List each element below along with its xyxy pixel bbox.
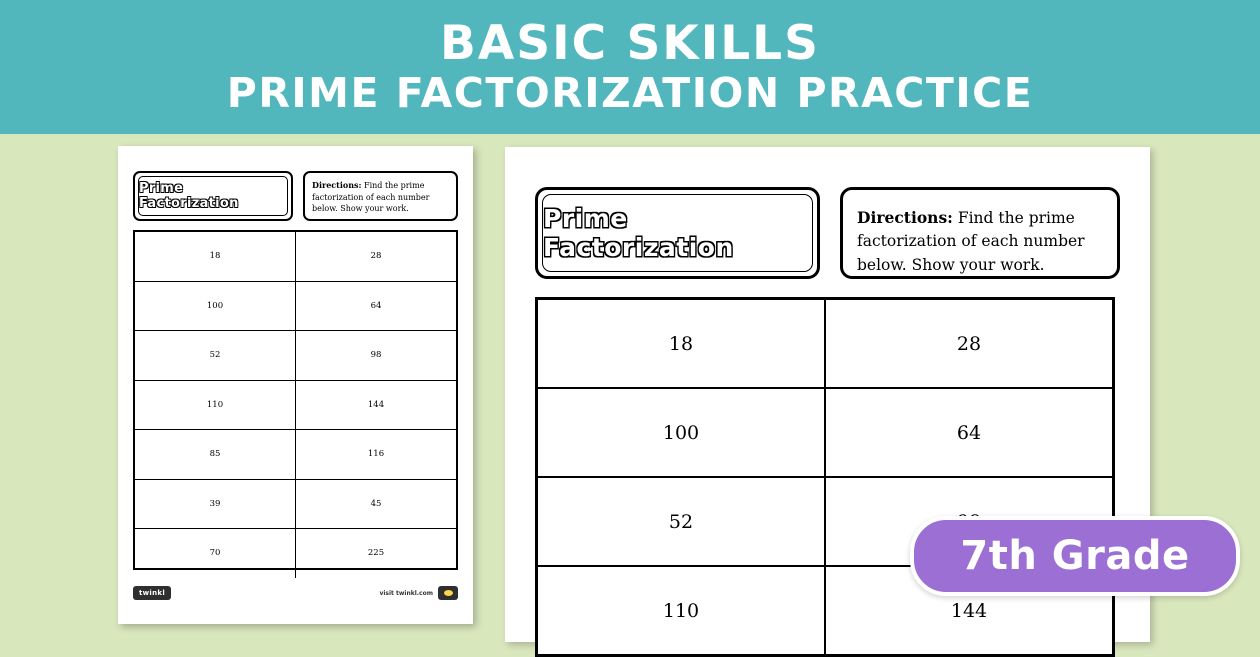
worksheet-page-small[interactable]: Prime Factorization Directions: Find the… [118,146,473,624]
worksheet-directions-box-large: Directions: Find the prime factorization… [840,187,1120,279]
table-cell[interactable]: 18 [538,300,826,387]
table-cell[interactable]: 116 [296,430,456,479]
table-cell[interactable]: 70 [135,529,296,578]
grade-badge: 7th Grade [910,516,1240,596]
table-cell[interactable]: 28 [826,300,1112,387]
twinkl-badge-icon [438,586,458,600]
worksheet-title-small: Prime Factorization [139,181,287,211]
worksheet-table-small: 18 28 100 64 52 98 110 144 85 116 39 45 [133,230,458,570]
banner-title-line2: Prime Factorization Practice [227,73,1033,114]
table-row: 18 28 [538,300,1112,389]
table-cell[interactable]: 52 [135,331,296,380]
worksheet-title-inner-small: Prime Factorization [138,176,288,216]
worksheet-table-large: 18 28 100 64 52 98 110 144 [535,297,1115,657]
footer-url: visit twinkl.com [379,590,433,597]
worksheet-title-inner-large: Prime Factorization [542,194,813,272]
table-row: 39 45 [135,480,456,530]
directions-label-small: Directions: [312,180,362,190]
table-cell[interactable]: 85 [135,430,296,479]
table-cell[interactable]: 110 [538,567,826,654]
table-row: 52 98 [135,331,456,381]
table-cell[interactable]: 64 [296,282,456,331]
twinkl-logo: twinkl [133,586,171,600]
table-cell[interactable]: 98 [296,331,456,380]
table-cell[interactable]: 64 [826,389,1112,476]
twinkl-badge-dot-icon [444,590,453,596]
table-cell[interactable]: 39 [135,480,296,529]
worksheet-directions-box-small: Directions: Find the prime factorization… [303,171,458,221]
table-row: 100 64 [135,282,456,332]
table-cell[interactable]: 225 [296,529,456,578]
table-cell[interactable]: 28 [296,232,456,281]
worksheet-title-box-small: Prime Factorization [133,171,293,221]
worksheet-footer-small: twinkl visit twinkl.com [133,580,458,606]
table-cell[interactable]: 144 [296,381,456,430]
directions-label-large: Directions: [857,208,953,227]
header-banner: Basic Skills Prime Factorization Practic… [0,0,1260,134]
footer-right-group: visit twinkl.com [379,586,458,600]
table-row: 18 28 [135,232,456,282]
table-row: 85 116 [135,430,456,480]
worksheet-title-box-large: Prime Factorization [535,187,820,279]
table-cell[interactable]: 100 [135,282,296,331]
table-cell[interactable]: 110 [135,381,296,430]
table-row: 110 144 [135,381,456,431]
worksheet-header-large: Prime Factorization Directions: Find the… [535,187,1120,279]
table-row: 100 64 [538,389,1112,478]
table-cell[interactable]: 45 [296,480,456,529]
table-row: 70 225 [135,529,456,578]
worksheet-header-small: Prime Factorization Directions: Find the… [133,171,458,221]
grade-badge-label: 7th Grade [960,533,1189,579]
table-cell[interactable]: 52 [538,478,826,565]
table-cell[interactable]: 100 [538,389,826,476]
worksheet-preview-area: Prime Factorization Directions: Find the… [0,134,1260,630]
table-cell[interactable]: 18 [135,232,296,281]
worksheet-title-large: Prime Factorization [543,204,812,262]
banner-title-line1: Basic Skills [440,20,820,67]
